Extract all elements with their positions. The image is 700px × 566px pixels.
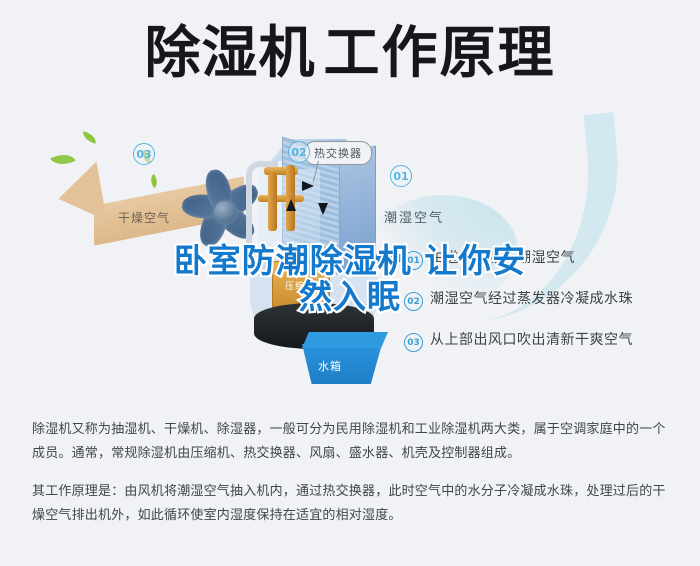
- legend-text-03: 从上部出风口吹出清新干爽空气: [430, 332, 633, 349]
- diagram-badge-03: 03: [133, 143, 155, 165]
- process-legend: 01 由进风口吸入潮湿空气 02 潮湿空气经过蒸发器冷凝成水珠 03 从上部出风…: [404, 250, 694, 373]
- legend-badge-01: 01: [404, 251, 423, 270]
- leaf-icon: [81, 131, 98, 144]
- heat-exchanger-callout: 热交换器: [304, 141, 372, 165]
- dry-air-label: 干燥空气: [118, 209, 170, 226]
- diagram-badge-01: 01: [390, 165, 412, 187]
- legend-badge-02: 02: [404, 292, 423, 311]
- legend-badge-03: 03: [404, 333, 423, 352]
- water-tank-icon: 水箱: [302, 332, 388, 384]
- legend-item: 01 由进风口吸入潮湿空气: [404, 250, 694, 270]
- page-title-part2: 工作原理: [324, 21, 556, 86]
- compressor-label: 压缩机: [278, 279, 322, 292]
- legend-text-02: 潮湿空气经过蒸发器冷凝成水珠: [430, 291, 633, 308]
- diagram-badge-02: 02: [288, 141, 310, 163]
- legend-item: 02 潮湿空气经过蒸发器冷凝成水珠: [404, 291, 694, 311]
- body-paragraph-2: 其工作原理是：由风机将潮湿空气抽入机内，通过热交换器，此时空气中的水分子冷凝成水…: [32, 480, 672, 528]
- page-title-part1: 除湿机: [145, 21, 316, 86]
- body-copy: 除湿机又称为抽湿机、干燥机、除湿器，一般可分为民用除湿机和工业除湿机两大类，属于…: [32, 418, 672, 528]
- legend-text-01: 由进风口吸入潮湿空气: [430, 250, 575, 267]
- body-paragraph-1: 除湿机又称为抽湿机、干燥机、除湿器，一般可分为民用除湿机和工业除湿机两大类，属于…: [32, 418, 672, 466]
- wet-air-label: 潮湿空气: [384, 207, 444, 226]
- infographic-page: 除湿机工作原理 干燥空气 03: [0, 0, 700, 566]
- water-tank-label: 水箱: [318, 358, 342, 374]
- legend-item: 03 从上部出风口吹出清新干爽空气: [404, 332, 694, 352]
- page-title: 除湿机工作原理: [0, 26, 700, 82]
